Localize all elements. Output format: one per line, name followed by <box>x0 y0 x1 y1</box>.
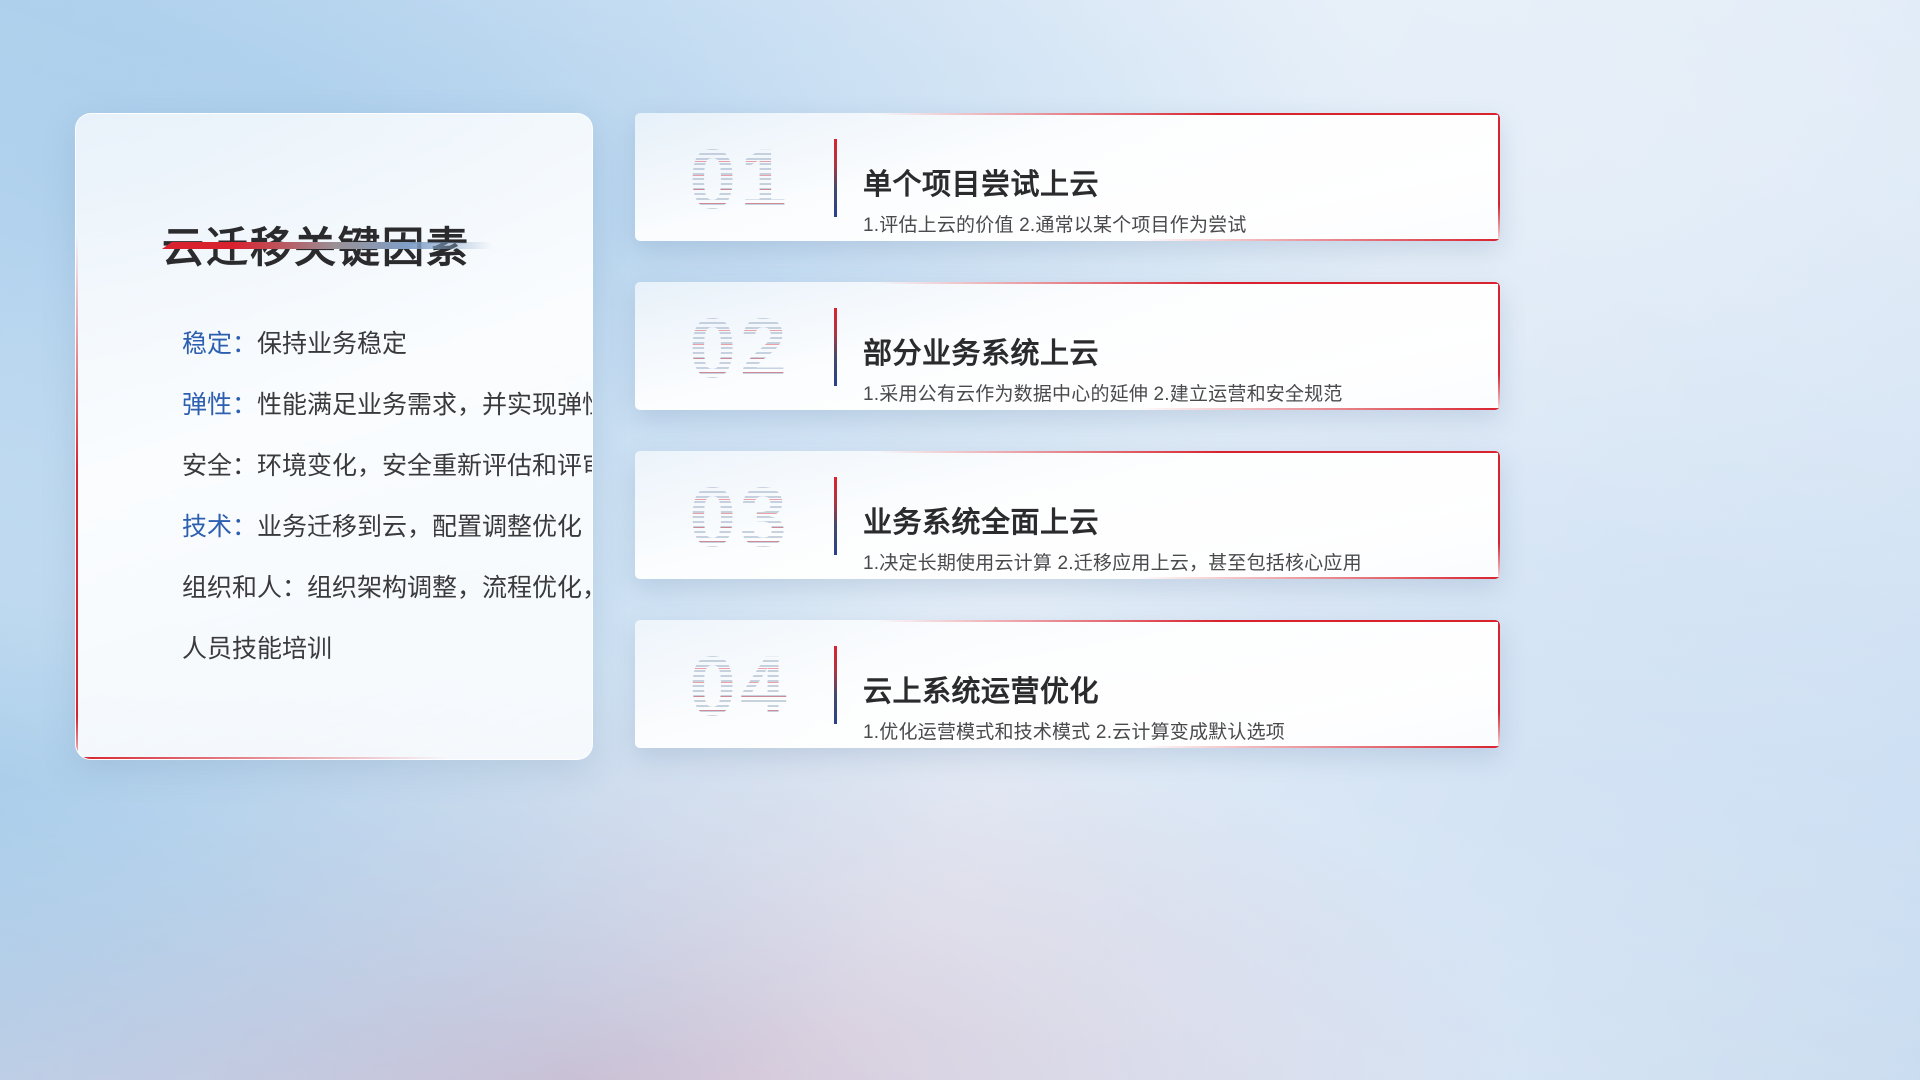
card-right-accent <box>1498 282 1500 410</box>
list-item: 技术：业务迁移到云，配置调整优化 <box>108 497 574 558</box>
card-description: 1.优化运营模式和技术模式 2.云计算变成默认选项 <box>863 717 1285 744</box>
stage-card[interactable]: 02 02 部分业务系统上云 1.采用公有云作为数据中心的延伸 2.建立运营和安… <box>635 282 1500 410</box>
card-right-accent <box>1498 620 1500 748</box>
factor-key: 技术： <box>182 513 257 541</box>
card-description: 1.采用公有云作为数据中心的延伸 2.建立运营和安全规范 <box>863 379 1343 406</box>
factor-key: 组织和人： <box>182 574 307 602</box>
card-divider-bar <box>834 139 837 217</box>
stage-card-list: 01 01 单个项目尝试上云 1.评估上云的价值 2.通常以某个项目作为尝试 0… <box>635 113 1500 789</box>
stage-card[interactable]: 03 03 业务系统全面上云 1.决定长期使用云计算 2.迁移应用上云，甚至包括… <box>635 451 1500 579</box>
factor-key: 安全： <box>182 452 257 480</box>
card-number-overlay: 04 <box>660 640 820 732</box>
card-number-overlay: 01 <box>660 133 820 225</box>
factor-value: 保持业务稳定 <box>257 330 407 358</box>
slide-stage: 云迁移关键因素 稳定：保持业务稳定 弹性：性能满足业务需求，并实现弹性 安全：环… <box>0 0 1920 1080</box>
factor-value: 性能满足业务需求，并实现弹性 <box>257 391 593 419</box>
panel-left-accent-bar <box>76 234 78 759</box>
card-number-overlay: 03 <box>660 471 820 563</box>
stage-card[interactable]: 04 04 云上系统运营优化 1.优化运营模式和技术模式 2.云计算变成默认选项 <box>635 620 1500 748</box>
factor-value: 人员技能培训 <box>182 635 332 663</box>
card-bottom-accent <box>1137 746 1500 748</box>
panel-bottom-accent-bar <box>76 757 448 759</box>
card-title: 部分业务系统上云 <box>863 330 1099 372</box>
card-title: 单个项目尝试上云 <box>863 161 1099 203</box>
card-top-accent <box>877 113 1500 115</box>
card-top-accent <box>877 620 1500 622</box>
card-right-accent <box>1498 451 1500 579</box>
card-description: 1.评估上云的价值 2.通常以某个项目作为尝试 <box>863 210 1247 237</box>
card-bottom-accent <box>1137 577 1500 579</box>
card-divider-bar <box>834 477 837 555</box>
list-item-continuation: 人员技能培训 <box>108 619 574 680</box>
key-factors-panel: 云迁移关键因素 稳定：保持业务稳定 弹性：性能满足业务需求，并实现弹性 安全：环… <box>75 113 593 760</box>
card-right-accent <box>1498 113 1500 241</box>
card-bottom-accent <box>1137 408 1500 410</box>
list-item: 弹性：性能满足业务需求，并实现弹性 <box>108 375 574 436</box>
factor-key: 弹性： <box>182 391 257 419</box>
card-title: 业务系统全面上云 <box>863 499 1099 541</box>
card-description: 1.决定长期使用云计算 2.迁移应用上云，甚至包括核心应用 <box>863 548 1362 575</box>
card-divider-bar <box>834 646 837 724</box>
factor-value: 环境变化，安全重新评估和评审 <box>257 452 593 480</box>
card-bottom-accent <box>1137 239 1500 241</box>
card-title: 云上系统运营优化 <box>863 668 1099 710</box>
list-item: 稳定：保持业务稳定 <box>108 314 574 375</box>
list-item: 安全：环境变化，安全重新评估和评审 <box>108 436 574 497</box>
card-divider-bar <box>834 308 837 386</box>
title-underline-rule <box>162 242 492 249</box>
card-top-accent <box>877 451 1500 453</box>
factor-key: 稳定： <box>182 330 257 358</box>
factor-value: 组织架构调整，流程优化， <box>307 574 593 602</box>
card-top-accent <box>877 282 1500 284</box>
factor-list: 稳定：保持业务稳定 弹性：性能满足业务需求，并实现弹性 安全：环境变化，安全重新… <box>108 314 574 680</box>
factor-value: 业务迁移到云，配置调整优化 <box>257 513 582 541</box>
list-item: 组织和人：组织架构调整，流程优化， <box>108 558 574 619</box>
stage-card[interactable]: 01 01 单个项目尝试上云 1.评估上云的价值 2.通常以某个项目作为尝试 <box>635 113 1500 241</box>
card-number-overlay: 02 <box>660 302 820 394</box>
